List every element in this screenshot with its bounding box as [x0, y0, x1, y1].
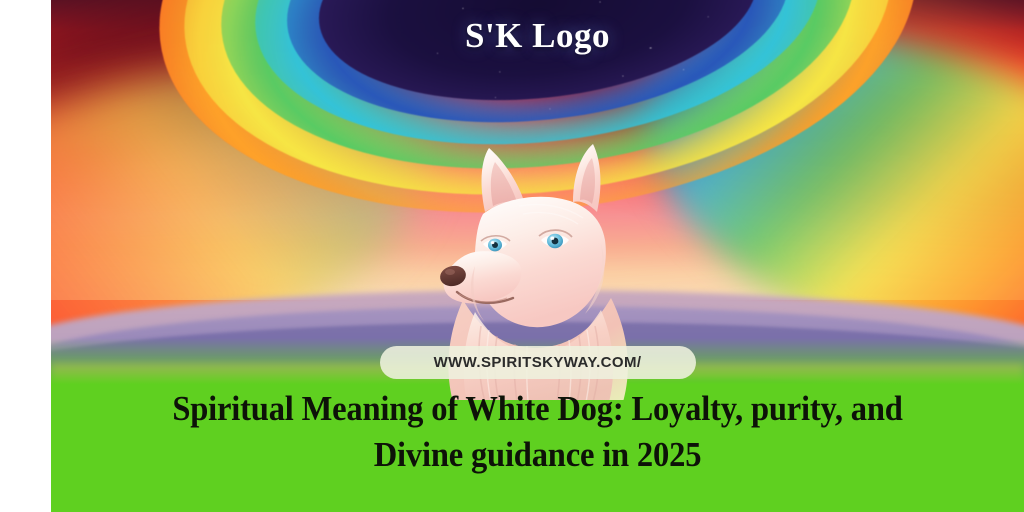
page-title: Spiritual Meaning of White Dog: Loyalty,…	[85, 386, 990, 478]
dog-nose-highlight	[445, 269, 455, 275]
logo-text: S'K Logo	[465, 16, 610, 56]
blog-pin-graphic: S'K Logo WWW.SPIRITSKYWAY.COM/ Spiritual…	[51, 0, 1024, 512]
screenshot-canvas: S'K Logo WWW.SPIRITSKYWAY.COM/ Spiritual…	[0, 0, 1024, 512]
url-badge-text: WWW.SPIRITSKYWAY.COM/	[434, 354, 642, 371]
url-badge[interactable]: WWW.SPIRITSKYWAY.COM/	[380, 346, 696, 379]
